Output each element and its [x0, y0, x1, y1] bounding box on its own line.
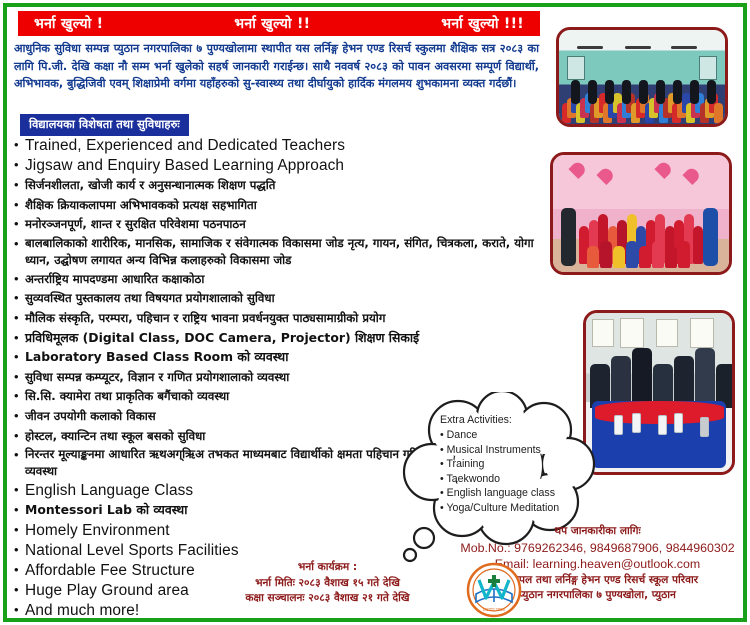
contact-mobile[interactable]: Mob.No.: 9769262346, 9849687906, 9844960…	[455, 540, 740, 557]
photo-figure	[613, 246, 625, 268]
feature-item: •प्रविधिमूलक (Digital Class, DOC Camera,…	[14, 329, 534, 348]
feature-text: शैक्षिक क्रियाकलापमा अभिभावकको प्रत्यक्ष…	[25, 196, 534, 215]
bullet-icon: •	[14, 348, 25, 366]
bullet-icon: •	[14, 521, 25, 539]
photo-figure	[600, 241, 612, 268]
bullet-icon: •	[14, 235, 25, 253]
bubble-item: • Musical Instruments	[440, 443, 580, 458]
section-heading-features: विद्यालयका विशेषता तथा सुविधाहरुः	[20, 114, 189, 136]
feature-text: Jigsaw and Enquiry Based Learning Approa…	[25, 156, 534, 175]
admission-poster: भर्ना खुल्यो ! भर्ना खुल्यो !! भर्ना खुल…	[0, 0, 750, 625]
photo-figure	[622, 80, 631, 104]
feature-item: •सुव्यवस्थित पुस्तकालय तथा विषयगत प्रयोग…	[14, 289, 534, 308]
photo-group-stage	[550, 152, 732, 275]
photo-classroom-assembly	[556, 27, 728, 127]
feature-item: •सुविधा सम्पन्न कम्प्यूटर, विज्ञान र गणि…	[14, 368, 534, 387]
bullet-icon: •	[14, 446, 25, 464]
photo-figure	[587, 246, 599, 268]
photo-figure	[707, 80, 716, 104]
bubble-item: • Dance	[440, 428, 580, 443]
feature-text: सुव्यवस्थित पुस्तकालय तथा विषयगत प्रयोगश…	[25, 289, 534, 308]
bullet-icon: •	[14, 501, 25, 519]
bullet-icon: •	[14, 601, 25, 619]
bullet-icon: •	[14, 270, 25, 288]
bubble-item: • English language class	[440, 486, 580, 501]
bullet-icon: •	[14, 407, 25, 425]
photo-figure	[695, 348, 715, 408]
admission-heading: भर्ना कार्यक्रम :	[205, 560, 450, 576]
feature-item: •शैक्षिक क्रियाकलापमा अभिभावकको प्रत्यक्…	[14, 196, 534, 215]
photo-figure	[639, 80, 648, 104]
feature-item: •Jigsaw and Enquiry Based Learning Appro…	[14, 156, 534, 175]
feature-text: मनोरञ्जनपूर्ण, शान्त र सुरक्षित परिवेशमा…	[25, 215, 534, 234]
school-logo: ESTD:2066	[466, 562, 522, 618]
feature-item: •अन्तर्राष्ट्रिय मापदण्डमा आधारित कक्षाक…	[14, 270, 534, 289]
admission-program: भर्ना कार्यक्रम : भर्ना मितिः २०८३ वैशाख…	[205, 560, 450, 607]
feature-item: •मौलिक संस्कृति, परम्परा, पहिचान र राष्ट…	[14, 309, 534, 328]
class-start-date: कक्षा सञ्चालनः २०८३ वैशाख २१ गते देखि	[205, 591, 450, 607]
feature-item: •Trained, Experienced and Dedicated Teac…	[14, 136, 534, 155]
bubble-title: Extra Activities:	[440, 414, 580, 426]
bullet-icon: •	[14, 427, 25, 445]
photo-figure	[690, 80, 699, 104]
photo-figure	[665, 246, 677, 268]
feature-text: मौलिक संस्कृति, परम्परा, पहिचान र राष्ट्…	[25, 309, 534, 328]
bullet-icon: •	[14, 329, 25, 347]
feature-text: Trained, Experienced and Dedicated Teach…	[25, 136, 534, 155]
banner-text-3: भर्ना खुल्यो !!!	[441, 14, 524, 33]
bubble-item: • Taekwondo	[440, 472, 580, 487]
photo-figure	[632, 348, 652, 408]
bullet-icon: •	[14, 289, 25, 307]
feature-text: प्रविधिमूलक (Digital Class, DOC Camera, …	[25, 329, 534, 348]
feature-text: Laboratory Based Class Room को व्यवस्था	[25, 348, 534, 367]
photo-figure	[639, 246, 651, 268]
banner-text-2: भर्ना खुल्यो !!	[234, 14, 310, 33]
bullet-icon: •	[14, 215, 25, 233]
bubble-item: • Training	[440, 457, 580, 472]
feature-text: सुविधा सम्पन्न कम्प्यूटर, विज्ञान र गणित…	[25, 368, 534, 387]
photo-figure	[652, 241, 664, 268]
admission-open-banner: भर्ना खुल्यो ! भर्ना खुल्यो !! भर्ना खुल…	[18, 11, 540, 36]
banner-text-1: भर्ना खुल्यो !	[34, 14, 103, 33]
svg-text:ESTD:2066: ESTD:2066	[483, 607, 505, 612]
feature-text: सिर्जनशीलता, खोजी कार्य र अनुसन्धानात्मक…	[25, 176, 534, 195]
feature-text: बालबालिकाको शारीरिक, मानसिक, सामाजिक र स…	[25, 235, 534, 269]
photo-figure	[678, 241, 690, 268]
feature-item: •बालबालिकाको शारीरिक, मानसिक, सामाजिक र …	[14, 235, 534, 269]
bullet-icon: •	[14, 387, 25, 405]
contact-heading: थप जानकारीका लागिः	[455, 524, 740, 540]
bubble-item-list: • Dance• Musical Instruments• Training• …	[440, 428, 580, 516]
bullet-icon: •	[14, 136, 25, 154]
bullet-icon: •	[14, 581, 25, 599]
bullet-icon: •	[14, 481, 25, 499]
feature-item: •सिर्जनशीलता, खोजी कार्य र अनुसन्धानात्म…	[14, 176, 534, 195]
bullet-icon: •	[14, 561, 25, 579]
photo-figure	[626, 241, 638, 268]
photo-figure	[571, 80, 580, 104]
photo-figure	[605, 80, 614, 104]
bullet-icon: •	[14, 541, 25, 559]
photo-figure	[588, 80, 597, 104]
feature-text: अन्तर्राष्ट्रिय मापदण्डमा आधारित कक्षाको…	[25, 270, 534, 289]
photo-figure	[693, 226, 703, 264]
admission-date: भर्ना मितिः २०८३ वैशाख १५ गते देखि	[205, 576, 450, 592]
bullet-icon: •	[14, 176, 25, 194]
bullet-icon: •	[14, 156, 25, 174]
bubble-item: • Yoga/Culture Meditation	[440, 501, 580, 516]
bullet-icon: •	[14, 309, 25, 327]
photo-figure	[714, 103, 723, 123]
feature-item: •मनोरञ्जनपूर्ण, शान्त र सुरक्षित परिवेशम…	[14, 215, 534, 234]
feature-item: •Laboratory Based Class Room को व्यवस्था	[14, 348, 534, 367]
photo-figure	[656, 80, 665, 104]
photo-figure	[673, 80, 682, 104]
bullet-icon: •	[14, 368, 25, 386]
intro-paragraph: आधुनिक सुविधा सम्पन्न प्युठान नगरपालिका …	[14, 40, 539, 93]
bullet-icon: •	[14, 196, 25, 214]
